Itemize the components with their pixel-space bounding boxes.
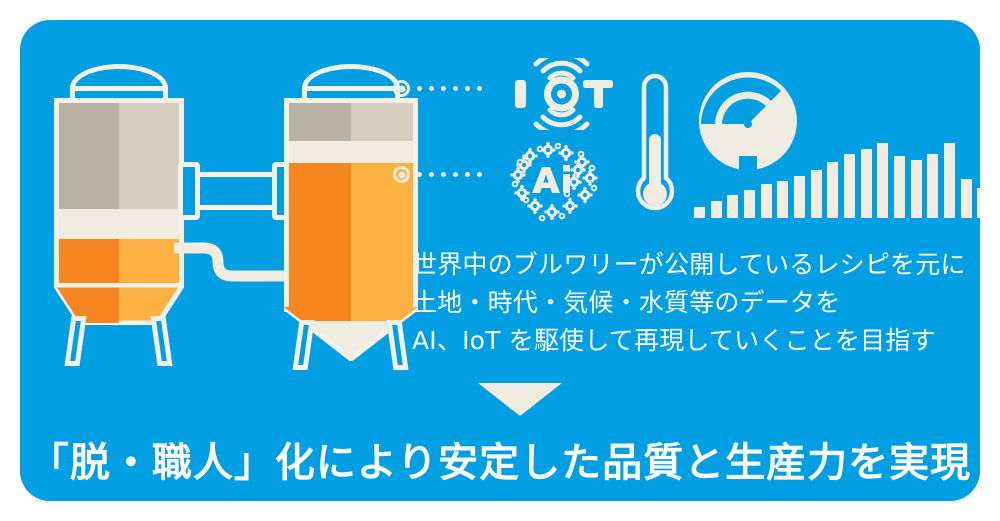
info-card: 世界中のブルワリーが公開しているレシピを元に 土地・時代・気候・水質等のデータを… xyxy=(20,20,980,501)
iot-icon xyxy=(509,58,614,130)
chart-bar xyxy=(811,170,822,218)
body-text: 世界中のブルワリーが公開しているレシピを元に 土地・時代・気候・水質等のデータを… xyxy=(412,246,980,360)
bullet-iot xyxy=(393,80,482,97)
dot-icon xyxy=(477,172,482,177)
chart-bar-cell xyxy=(894,140,911,218)
chart-bar xyxy=(727,195,738,218)
chart-bar-cell xyxy=(861,140,878,218)
chart-bar xyxy=(694,207,705,218)
chart-bar xyxy=(794,176,805,218)
chart-bar-cell xyxy=(794,140,811,218)
transfer-tube xyxy=(174,238,284,298)
dot-icon xyxy=(453,172,458,177)
chart-bar xyxy=(911,160,922,218)
dot-icon xyxy=(465,86,470,91)
thermometer-icon xyxy=(632,70,678,218)
chart-bar xyxy=(927,154,938,218)
bullet-ai xyxy=(393,166,482,183)
body-line-3: AI、IoT を駆使して再現していくことを目指す xyxy=(412,322,980,360)
pipe-flange-left xyxy=(178,162,200,220)
dot-icon xyxy=(417,172,422,177)
dot-icon xyxy=(417,86,422,91)
chart-bar-cell xyxy=(777,140,794,218)
ring-dot-icon xyxy=(393,80,410,97)
chart-bar xyxy=(711,201,722,218)
chart-bar xyxy=(744,190,755,218)
chart-bar-cell xyxy=(911,140,928,218)
dot-icon xyxy=(429,86,434,91)
dot-icon xyxy=(465,172,470,177)
tank-left-grain-segment xyxy=(59,103,179,209)
tank-left-dome-icon xyxy=(70,64,168,88)
dot-icon xyxy=(441,86,446,91)
chart-bar-cell xyxy=(744,140,761,218)
chart-bar xyxy=(961,179,972,218)
connecting-pipe xyxy=(192,172,282,210)
chart-bar xyxy=(977,188,980,218)
chart-bar xyxy=(761,184,772,218)
headline: 「脱・職人」化により安定した品質と生産力を実現 xyxy=(20,430,980,488)
dot-icon xyxy=(429,172,434,177)
screenshot-root: 世界中のブルワリーが公開しているレシピを元に 土地・時代・気候・水質等のデータを… xyxy=(0,0,1000,521)
chart-bar xyxy=(827,162,838,218)
chart-bar xyxy=(877,143,888,218)
chart-bar xyxy=(944,143,955,218)
tank-right-body xyxy=(284,98,418,312)
ring-dot-icon xyxy=(393,166,410,183)
tank-left-foam-segment xyxy=(59,209,179,239)
tank-right-beer-segment xyxy=(289,163,413,312)
chart-bar-cell xyxy=(811,140,828,218)
tank-left-beer-segment xyxy=(59,239,179,288)
chart-bar-cell xyxy=(694,140,711,218)
tank-right-dome-icon xyxy=(302,64,400,88)
chart-bar-cell xyxy=(927,140,944,218)
chart-bar-cell xyxy=(711,140,728,218)
body-line-1: 世界中のブルワリーが公開しているレシピを元に xyxy=(412,246,980,284)
body-line-2: 土地・時代・気候・水質等のデータを xyxy=(412,284,980,322)
chart-bar xyxy=(861,149,872,218)
chart-bar-cell xyxy=(977,140,980,218)
ai-brain-gears-icon xyxy=(502,140,614,226)
chart-bar-cell xyxy=(877,140,894,218)
chart-bar-cell xyxy=(827,140,844,218)
dot-icon xyxy=(453,86,458,91)
chart-bar-cell xyxy=(961,140,978,218)
tank-right-grain-segment xyxy=(289,103,413,141)
chart-bar xyxy=(777,181,788,218)
tank-right-foam-segment xyxy=(289,141,413,163)
chart-bar-cell xyxy=(944,140,961,218)
chart-bar-cell xyxy=(761,140,778,218)
down-arrow-icon xyxy=(478,383,562,416)
chart-bar xyxy=(894,156,905,218)
tank-left-body xyxy=(54,98,184,288)
dot-icon xyxy=(441,172,446,177)
dot-icon xyxy=(477,86,482,91)
chart-bar xyxy=(844,154,855,218)
brewery-tanks-illustration xyxy=(44,64,384,364)
growth-bar-chart xyxy=(694,140,980,218)
chart-bar-cell xyxy=(844,140,861,218)
chart-bar-cell xyxy=(727,140,744,218)
